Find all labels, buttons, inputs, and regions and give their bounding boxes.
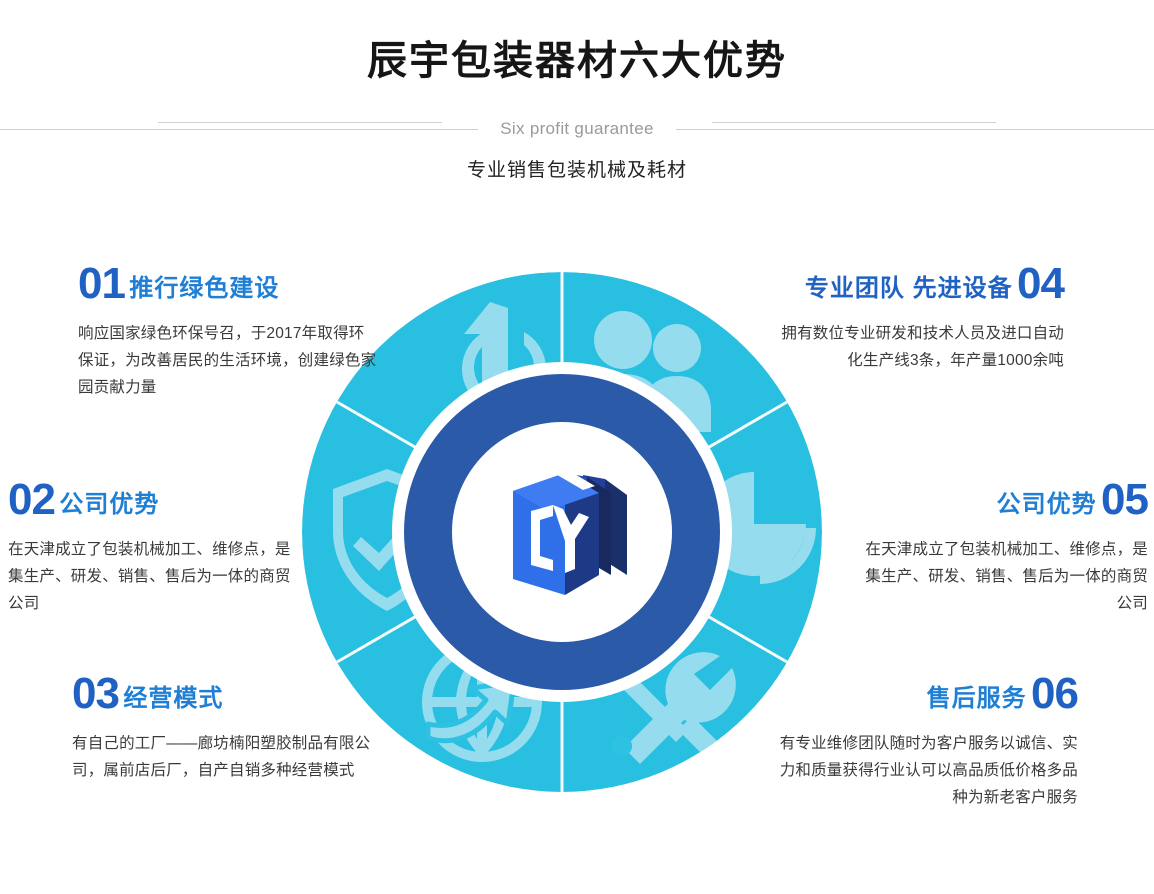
feature-label-04: 专业团队 先进设备 <box>805 275 1013 302</box>
feature-body-04: 拥有数位专业研发和技术人员及进口自动化生产线3条，年产量1000余吨 <box>776 320 1064 374</box>
header: 辰宇包装器材六大优势 Six profit guarantee 专业销售包装机械… <box>0 0 1154 210</box>
feature-item-02: 02 公司优势 在天津成立了包装机械加工、维修点，是集生产、研发、销售、售后为一… <box>8 478 298 617</box>
feature-heading-03: 03 经营模式 <box>72 672 384 716</box>
feature-number-06: 06 <box>1031 669 1078 718</box>
feature-heading-02: 02 公司优势 <box>8 478 298 522</box>
feature-number-02: 02 <box>8 475 55 524</box>
feature-item-03: 03 经营模式 有自己的工厂——廊坊楠阳塑胶制品有限公司，属前店后厂，自产自销多… <box>72 672 384 784</box>
feature-number-05: 05 <box>1101 475 1148 524</box>
hub-logo-container <box>452 422 672 642</box>
feature-number-01: 01 <box>78 259 125 308</box>
feature-label-06: 售后服务 <box>927 685 1027 712</box>
feature-item-05: 公司优势 05 在天津成立了包装机械加工、维修点，是集生产、研发、销售、售后为一… <box>852 478 1148 617</box>
header-divider: Six profit guarantee <box>0 110 1154 150</box>
feature-number-04: 04 <box>1017 259 1064 308</box>
feature-label-02: 公司优势 <box>59 491 159 518</box>
feature-number-03: 03 <box>72 669 119 718</box>
feature-body-02: 在天津成立了包装机械加工、维修点，是集生产、研发、销售、售后为一体的商贸公司 <box>8 536 298 617</box>
subtitle-english: Six profit guarantee <box>482 119 671 138</box>
subtitle-english-wrap: Six profit guarantee <box>0 110 1154 148</box>
feature-item-04: 专业团队 先进设备 04 拥有数位专业研发和技术人员及进口自动化生产线3条，年产… <box>776 262 1064 374</box>
feature-label-03: 经营模式 <box>123 685 223 712</box>
feature-label-05: 公司优势 <box>997 491 1097 518</box>
page-title: 辰宇包装器材六大优势 <box>0 36 1154 86</box>
feature-label-01: 推行绿色建设 <box>129 275 279 302</box>
feature-body-06: 有专业维修团队随时为客户服务以诚信、实力和质量获得行业认可以高品质低价格多品种为… <box>778 730 1078 811</box>
feature-heading-06: 售后服务 06 <box>778 672 1078 716</box>
subtitle-chinese: 专业销售包装机械及耗材 <box>0 155 1154 182</box>
feature-heading-01: 01 推行绿色建设 <box>78 262 378 306</box>
feature-body-01: 响应国家绿色环保号召，于2017年取得环保证，为改善居民的生活环境，创建绿色家园… <box>78 320 378 401</box>
feature-heading-04: 专业团队 先进设备 04 <box>776 262 1064 306</box>
feature-item-06: 售后服务 06 有专业维修团队随时为客户服务以诚信、实力和质量获得行业认可以高品… <box>778 672 1078 811</box>
feature-heading-05: 公司优势 05 <box>852 478 1148 522</box>
company-logo-icon <box>487 457 637 607</box>
feature-body-05: 在天津成立了包装机械加工、维修点，是集生产、研发、销售、售后为一体的商贸公司 <box>852 536 1148 617</box>
feature-item-01: 01 推行绿色建设 响应国家绿色环保号召，于2017年取得环保证，为改善居民的生… <box>78 262 378 401</box>
feature-body-03: 有自己的工厂——廊坊楠阳塑胶制品有限公司，属前店后厂，自产自销多种经营模式 <box>72 730 384 784</box>
